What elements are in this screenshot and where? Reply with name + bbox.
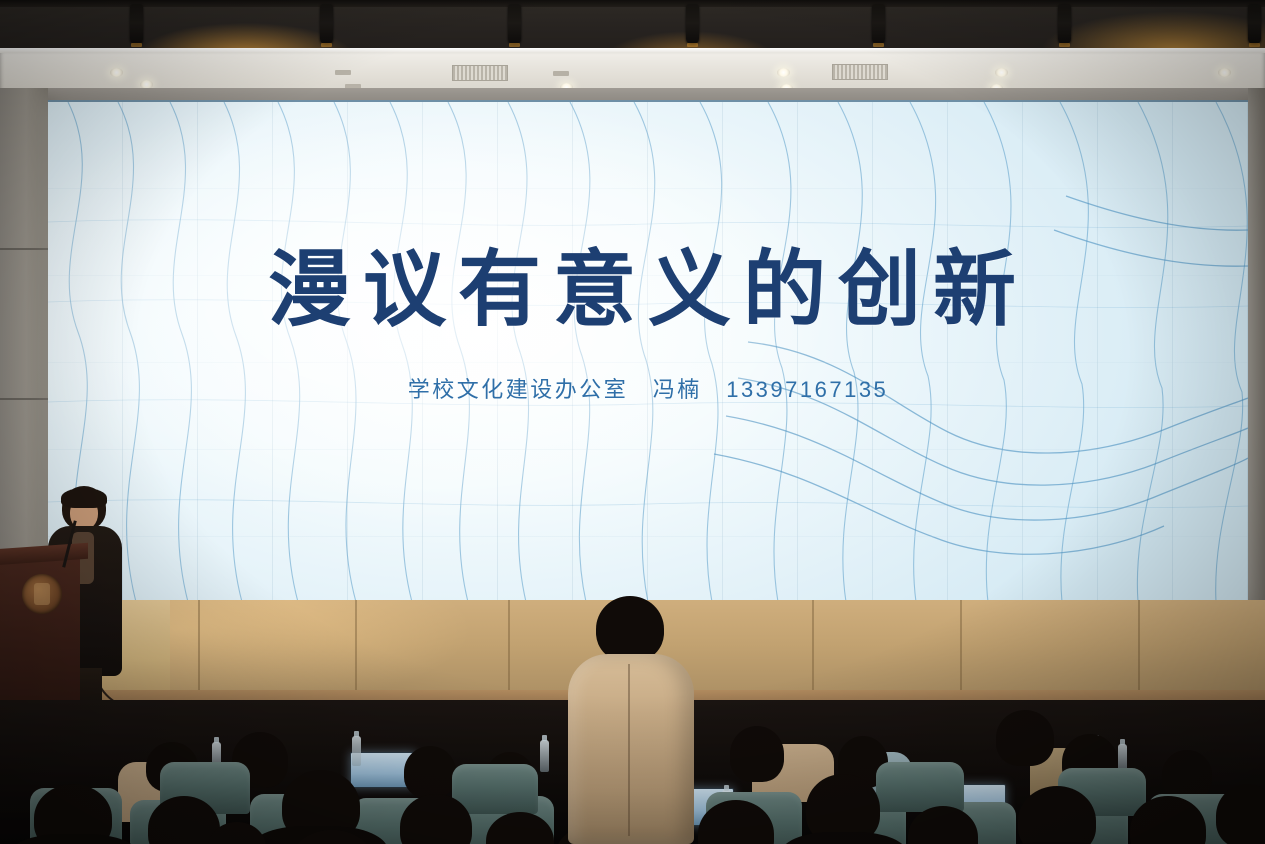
track-light-icon bbox=[1248, 4, 1261, 44]
audience-head bbox=[404, 746, 456, 798]
track-light-icon bbox=[686, 4, 699, 44]
led-presentation-screen bbox=[48, 100, 1248, 602]
slide-title: 漫议有意义的创新 bbox=[48, 222, 1248, 342]
standing-attendee-hair bbox=[596, 596, 664, 662]
audience-head bbox=[1162, 750, 1212, 800]
hvac-vent-icon bbox=[832, 64, 888, 80]
wall-panel-seam bbox=[355, 600, 357, 692]
presenter-hair-fringe bbox=[61, 488, 107, 508]
water-bottle-icon bbox=[540, 740, 549, 772]
slide-wave-pattern bbox=[48, 102, 1248, 602]
lighting-track-rail bbox=[0, 0, 1265, 7]
hvac-vent-icon bbox=[452, 65, 508, 81]
audience-head bbox=[996, 710, 1054, 766]
wall-panel-seam bbox=[1138, 600, 1140, 692]
standing-attendee bbox=[560, 596, 700, 844]
track-light-icon bbox=[872, 4, 885, 44]
track-light-icon bbox=[508, 4, 521, 44]
soffit-edge bbox=[0, 48, 1265, 53]
ceiling-soffit bbox=[0, 48, 1265, 92]
audience-head bbox=[730, 726, 784, 782]
ceiling bbox=[0, 0, 1265, 52]
recessed-downlight-icon bbox=[1218, 68, 1231, 77]
slide-subtitle: 学校文化建设办公室 冯楠 13397167135 bbox=[48, 372, 1248, 404]
wall-panel-seam bbox=[812, 600, 814, 692]
audience-head bbox=[1216, 784, 1265, 844]
recessed-downlight-icon bbox=[110, 68, 123, 77]
auditorium-seat bbox=[876, 762, 964, 812]
wall-panel-seam bbox=[198, 600, 200, 692]
ceiling-fitting bbox=[553, 71, 569, 76]
recessed-downlight-icon bbox=[777, 68, 790, 77]
coat-back-seam bbox=[628, 664, 630, 836]
track-light-icon bbox=[320, 4, 333, 44]
wall-panel-seam bbox=[508, 600, 510, 692]
track-light-icon bbox=[130, 4, 143, 44]
track-light-icon bbox=[1058, 4, 1071, 44]
right-wall bbox=[1248, 88, 1265, 648]
recessed-downlight-icon bbox=[995, 68, 1008, 77]
standing-attendee-coat bbox=[568, 654, 694, 844]
podium-emblem-icon bbox=[22, 574, 62, 614]
water-bottle-icon bbox=[352, 736, 361, 766]
wall-panel-seam bbox=[960, 600, 962, 692]
auditorium-presentation-photo: 漫议有意义的创新 学校文化建设办公室 冯楠 13397167135 bbox=[0, 0, 1265, 844]
ceiling-fitting bbox=[335, 70, 351, 75]
